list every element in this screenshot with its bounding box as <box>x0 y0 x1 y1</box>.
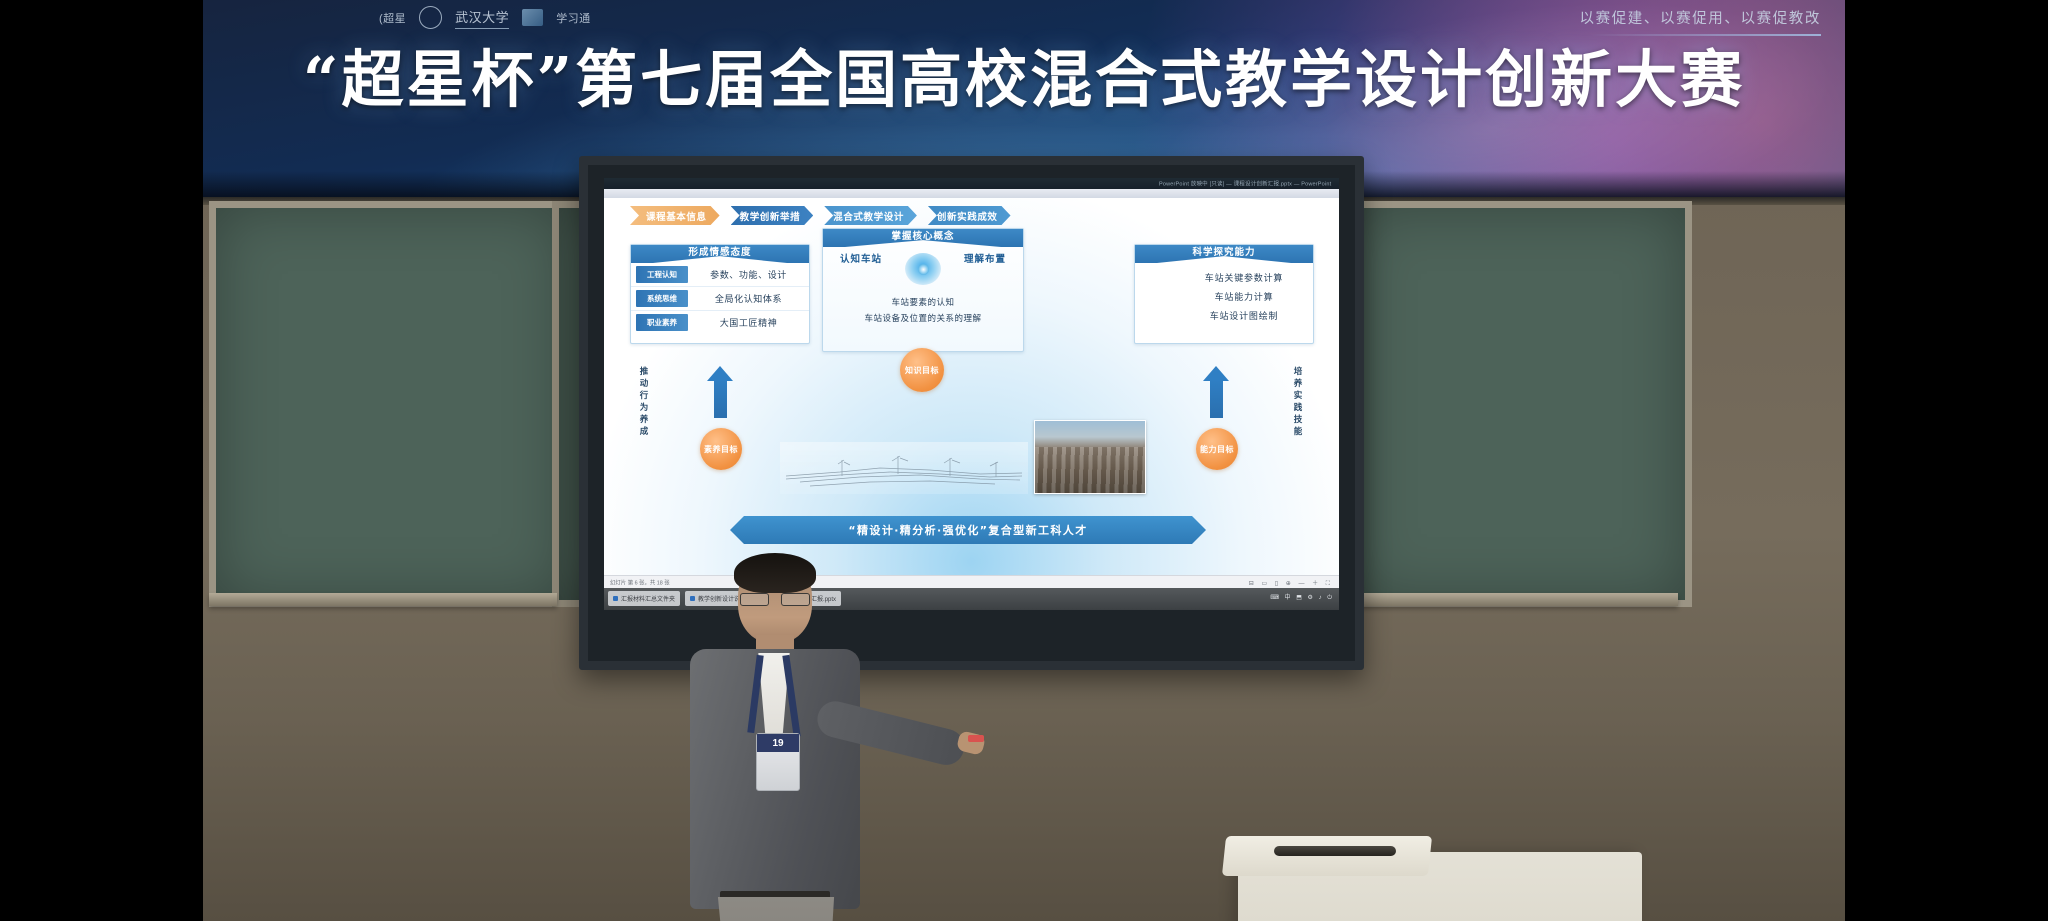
screenshot-root: (超星 武汉大学 学习通 以赛促建、以赛促用、以赛促教改 “超星杯”第七届全国高… <box>0 0 2048 921</box>
wuhan-university-logo: 武汉大学 <box>455 6 509 29</box>
lectern-handle <box>1274 846 1396 856</box>
goal-knowledge: 知识目标 <box>900 348 944 392</box>
row-key: 系统思维 <box>636 290 688 307</box>
laser-pointer <box>968 735 984 742</box>
station-layout-sketch <box>780 442 1028 494</box>
taskbar-tray[interactable]: ⌨ 中 ⬒ ⚙ ♪ ⏻ <box>1270 592 1334 602</box>
pillarbox-left <box>0 0 203 921</box>
row-key: 工程认知 <box>636 266 688 283</box>
list-item: 车站能力计算 <box>1175 289 1313 308</box>
slide-bottom-ribbon: “精设计·精分析·强优化”复合型新工科人才 <box>730 516 1206 544</box>
arrow-up-left-icon <box>714 380 727 418</box>
presenter-trousers <box>710 897 842 921</box>
slide-breadcrumb: 课程基本信息 教学创新举措 混合式教学设计 创新实践成效 <box>630 206 1011 225</box>
table-row: 职业素养 大国工匠精神 <box>631 311 809 334</box>
folder-icon <box>613 596 618 601</box>
concept-line: 车站要素的认知 <box>823 295 1023 311</box>
concept-line: 车站设备及位置的关系的理解 <box>823 311 1023 327</box>
slide-canvas: 课程基本信息 教学创新举措 混合式教学设计 创新实践成效 形成情感态度 <box>604 198 1339 577</box>
station-diagram-image <box>780 442 1028 494</box>
construction-site-photo <box>1034 420 1146 494</box>
chalk-tray-left <box>209 593 557 606</box>
goal-ability: 能力目标 <box>1196 428 1238 470</box>
chalkboard-left <box>209 201 571 607</box>
row-value: 参数、功能、设计 <box>688 268 809 281</box>
slide-counter: 幻灯片 第 6 张，共 18 张 <box>610 578 670 586</box>
slide-crumb-course-info[interactable]: 课程基本信息 <box>630 206 720 225</box>
knowledge-sphere-icon <box>905 253 941 285</box>
list-item: 车站关键参数计算 <box>1175 270 1313 289</box>
lectern <box>1238 852 1642 921</box>
side-label-left: 推动行为养成 <box>637 366 652 438</box>
glasses-icon <box>740 593 810 604</box>
banner-slogan: 以赛促建、以赛促用、以赛促教改 <box>1580 7 1822 28</box>
slide-crumb-teaching-innovation[interactable]: 教学创新举措 <box>731 206 814 225</box>
concept-left-word: 认知车站 <box>835 251 887 268</box>
screen-surface[interactable]: PowerPoint 放映中 [只读] — 课程设计创新汇报.pptx — Po… <box>604 178 1339 610</box>
row-value: 全局化认知体系 <box>688 292 809 305</box>
table-row: 工程认知 参数、功能、设计 <box>631 263 809 287</box>
lectern-ledge <box>1222 836 1432 876</box>
side-label-right: 培养实践技能 <box>1291 366 1306 438</box>
powerpoint-titlebar: PowerPoint 放映中 [只读] — 课程设计创新汇报.pptx — Po… <box>604 178 1339 189</box>
presenter: 19 <box>668 557 888 921</box>
presenter-badge: 19 <box>756 733 800 791</box>
classroom-wall: PowerPoint 放映中 [只读] — 课程设计创新汇报.pptx — Po… <box>203 197 1845 921</box>
table-row: 系统思维 全局化认知体系 <box>631 287 809 311</box>
video-frame: (超星 武汉大学 学习通 以赛促建、以赛促用、以赛促教改 “超星杯”第七届全国高… <box>203 0 1845 921</box>
panel-core-concepts: 掌握核心概念 认知车站 理解布置 车站要素的认知 车站设备及位置的关系的理解 <box>822 228 1024 352</box>
core-concept-pair: 认知车站 理解布置 <box>823 251 1023 287</box>
view-controls[interactable]: ⊟ ▭ ▯ ⊕ — ＋ ⛶ <box>1249 578 1333 588</box>
row-value: 大国工匠精神 <box>688 316 809 329</box>
presenter-hair <box>734 553 816 593</box>
concept-right-word: 理解布置 <box>959 251 1011 268</box>
slide-crumb-practice-results[interactable]: 创新实践成效 <box>928 206 1011 225</box>
partner-logo: 学习通 <box>556 7 591 28</box>
panel-emotional-attitude-title: 形成情感态度 <box>631 245 809 263</box>
row-key: 职业素养 <box>636 314 688 331</box>
pillarbox-right <box>1845 0 2048 921</box>
slide-crumb-blended-design[interactable]: 混合式教学设计 <box>824 206 917 225</box>
banner-slogan-rule <box>1589 34 1821 36</box>
chaoxing-logo: (超星 <box>379 7 406 28</box>
panel-emotional-attitude: 形成情感态度 工程认知 参数、功能、设计 系统思维 全局化认知体系 职业素养 <box>630 244 810 344</box>
inquiry-list: 车站关键参数计算 车站能力计算 车站设计图绘制 <box>1135 263 1313 327</box>
goal-literacy: 素养目标 <box>700 428 742 470</box>
arrow-up-right-icon <box>1210 380 1223 418</box>
badge-number: 19 <box>757 734 799 752</box>
core-concept-lines: 车站要素的认知 车站设备及位置的关系的理解 <box>823 295 1023 327</box>
powerpoint-window-title: PowerPoint 放映中 [只读] — 课程设计创新汇报.pptx — Po… <box>1159 179 1331 187</box>
banner-logo-row: (超星 武汉大学 学习通 <box>379 6 591 29</box>
list-item: 车站设计图绘制 <box>1175 308 1313 327</box>
panel-scientific-inquiry-title: 科学探究能力 <box>1135 245 1313 263</box>
panel-core-concepts-title: 掌握核心概念 <box>823 229 1023 247</box>
partner-logo-mark <box>522 9 543 26</box>
event-title: “超星杯”第七届全国高校混合式教学设计创新大赛 <box>203 42 1845 118</box>
chalk-tray-right <box>1348 593 1678 606</box>
circle-logo <box>419 6 442 29</box>
taskbar-item-label: 汇报材料汇总文件夹 <box>621 594 675 603</box>
chalkboard-right <box>1348 201 1692 607</box>
panel-scientific-inquiry: 科学探究能力 车站关键参数计算 车站能力计算 车站设计图绘制 <box>1134 244 1314 344</box>
